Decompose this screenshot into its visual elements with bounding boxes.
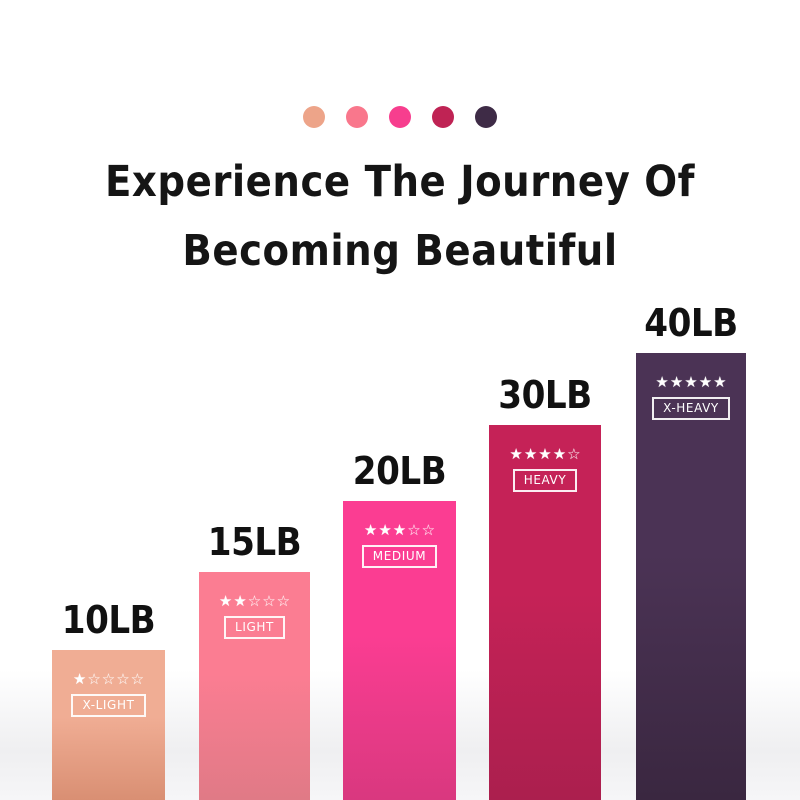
bar-column-10lb[interactable]: 10LB★☆☆☆☆X-LIGHT [52,650,165,800]
bar-badge: ★★★☆☆MEDIUM [343,523,456,568]
star-filled-icon: ★ [219,594,232,609]
bar-weight-label: 15LB [208,523,301,572]
bar-column-40lb[interactable]: 40LB★★★★★X-HEAVY [636,353,746,800]
star-rating: ★★★★★ [655,375,726,390]
resistance-tag: MEDIUM [362,545,437,568]
star-outline-icon: ☆ [102,672,115,687]
star-rating: ★★☆☆☆ [219,594,290,609]
star-outline-icon: ☆ [131,672,144,687]
star-outline-icon: ☆ [262,594,275,609]
star-rating: ★☆☆☆☆ [73,672,144,687]
star-filled-icon: ★ [699,375,712,390]
star-filled-icon: ★ [524,447,537,462]
star-rating: ★★★☆☆ [364,523,435,538]
bar-badge: ★★★★☆HEAVY [489,447,601,492]
bar-weight-label: 10LB [62,601,155,650]
resistance-tag: HEAVY [513,469,578,492]
star-filled-icon: ★ [364,523,377,538]
bar-body: ★★★★☆HEAVY [489,425,601,800]
bar-weight-label: 40LB [644,304,737,353]
infographic-stage: Experience The Journey Of Becoming Beaut… [0,0,800,800]
bar-weight-label: 30LB [498,376,591,425]
resistance-bar-chart: 10LB★☆☆☆☆X-LIGHT15LB★★☆☆☆LIGHT20LB★★★☆☆M… [0,0,800,800]
star-filled-icon: ★ [233,594,246,609]
bar-column-15lb[interactable]: 15LB★★☆☆☆LIGHT [199,572,310,800]
star-outline-icon: ☆ [422,523,435,538]
bar-column-30lb[interactable]: 30LB★★★★☆HEAVY [489,425,601,800]
resistance-tag: LIGHT [224,616,285,639]
bar-body: ★★★★★X-HEAVY [636,353,746,800]
star-filled-icon: ★ [670,375,683,390]
star-outline-icon: ☆ [248,594,261,609]
bar-badge: ★★★★★X-HEAVY [636,375,746,420]
bar-body: ★★☆☆☆LIGHT [199,572,310,800]
bar-body: ★☆☆☆☆X-LIGHT [52,650,165,800]
star-filled-icon: ★ [538,447,551,462]
bar-badge: ★☆☆☆☆X-LIGHT [52,672,165,717]
star-filled-icon: ★ [655,375,668,390]
resistance-tag: X-HEAVY [652,397,730,420]
star-filled-icon: ★ [73,672,86,687]
star-filled-icon: ★ [713,375,726,390]
star-rating: ★★★★☆ [509,447,580,462]
star-filled-icon: ★ [684,375,697,390]
star-outline-icon: ☆ [407,523,420,538]
resistance-tag: X-LIGHT [71,694,145,717]
star-outline-icon: ☆ [567,447,580,462]
star-filled-icon: ★ [509,447,522,462]
bar-weight-label: 20LB [353,452,446,501]
bar-column-20lb[interactable]: 20LB★★★☆☆MEDIUM [343,501,456,800]
bar-body: ★★★☆☆MEDIUM [343,501,456,800]
star-filled-icon: ★ [553,447,566,462]
star-outline-icon: ☆ [116,672,129,687]
star-filled-icon: ★ [378,523,391,538]
star-outline-icon: ☆ [87,672,100,687]
bar-fill [636,353,746,800]
star-filled-icon: ★ [393,523,406,538]
star-outline-icon: ☆ [277,594,290,609]
bar-badge: ★★☆☆☆LIGHT [199,594,310,639]
